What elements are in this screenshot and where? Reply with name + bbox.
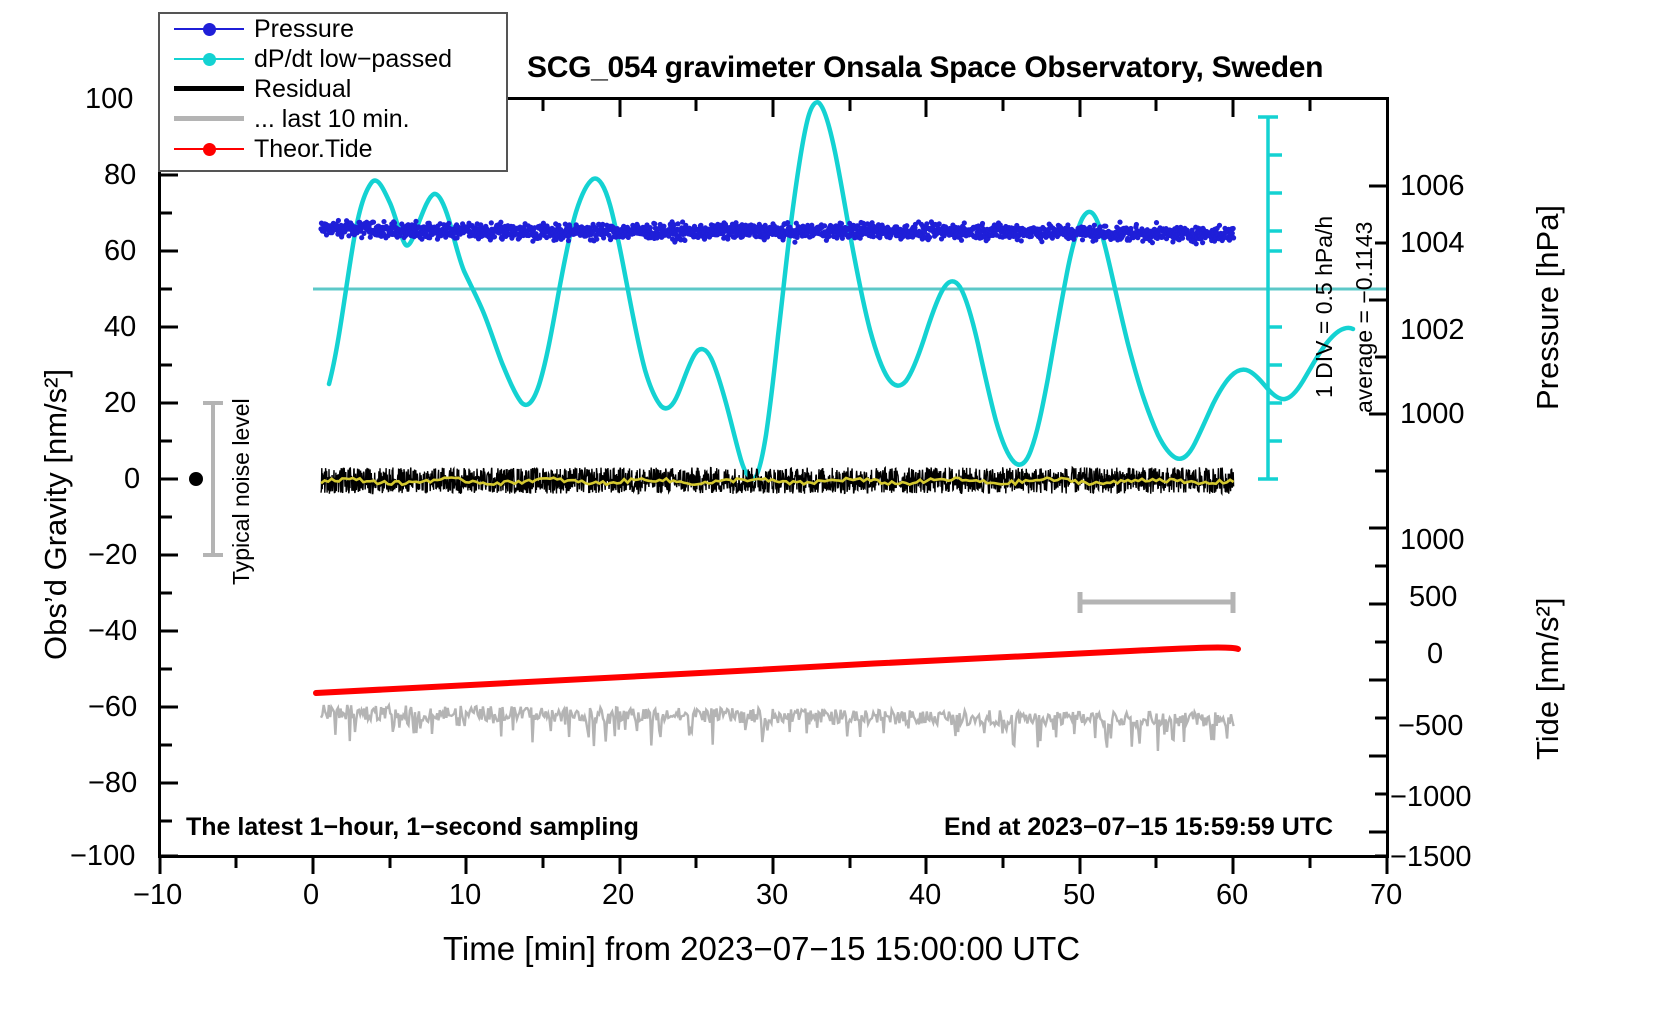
legend-label-pressure: Pressure: [248, 15, 354, 44]
footer-note-left: The latest 1−hour, 1−second sampling: [186, 813, 639, 842]
bottom-tick-20: 20: [602, 879, 634, 912]
right-tide-tick-m1000: −1000: [1390, 781, 1471, 814]
right-pressure-tick-1006: 1006: [1400, 170, 1465, 203]
left-axis-label: Obs’d Gravity [nm/s²]: [38, 369, 74, 660]
bottom-axis-label: Time [min] from 2023−07−15 15:00:00 UTC: [443, 930, 1080, 968]
left-tick-m40: −40: [88, 615, 137, 648]
right-tide-axis-label: Tide [nm/s²]: [1530, 598, 1566, 761]
legend-label-last10: ... last 10 min.: [248, 105, 410, 134]
left-tick-m60: −60: [88, 691, 137, 724]
right-tide-tick-1000: 1000: [1400, 524, 1465, 557]
typical-noise-level-label: Typical noise level: [228, 398, 255, 585]
bottom-tick-m10: −10: [133, 879, 182, 912]
legend-swatch-last10: [170, 104, 248, 134]
legend-swatch-theor-tide: [170, 134, 248, 164]
bottom-tick-60: 60: [1216, 879, 1248, 912]
left-tick-m100: −100: [70, 840, 135, 873]
bottom-tick-40: 40: [909, 879, 941, 912]
left-tick-100: 100: [85, 83, 133, 116]
bottom-axis-ticks: [160, 856, 1387, 874]
dpdt-scale-label: 1 DIV = 0.5 hPa/h: [1311, 216, 1338, 398]
left-tick-m20: −20: [88, 539, 137, 572]
right-pressure-tick-1000: 1000: [1400, 398, 1465, 431]
legend-swatch-residual: [170, 74, 248, 104]
legend-label-dpdt: dP/dt low−passed: [248, 45, 452, 74]
legend-item-residual[interactable]: Residual: [160, 74, 506, 104]
legend-label-residual: Residual: [248, 75, 351, 104]
chart-title: SCG_054 gravimeter Onsala Space Observat…: [527, 51, 1323, 85]
legend-item-last10[interactable]: ... last 10 min.: [160, 104, 506, 134]
left-tick-80: 80: [104, 159, 136, 192]
dpdt-average-label: average = −0.1143: [1351, 222, 1378, 413]
legend-item-dpdt[interactable]: dP/dt low−passed: [160, 44, 506, 74]
right-tide-tick-m500: −500: [1398, 710, 1463, 743]
left-tick-20: 20: [104, 387, 136, 420]
bottom-tick-10: 10: [449, 879, 481, 912]
legend-label-theor-tide: Theor.Tide: [248, 135, 373, 164]
right-pressure-tick-1002: 1002: [1400, 314, 1465, 347]
left-tick-0: 0: [124, 463, 140, 496]
legend-item-theor-tide[interactable]: Theor.Tide: [160, 134, 506, 164]
bottom-tick-0: 0: [303, 879, 319, 912]
left-tick-40: 40: [104, 311, 136, 344]
left-tick-60: 60: [104, 235, 136, 268]
legend-swatch-dpdt: [170, 44, 248, 74]
footer-note-right: End at 2023−07−15 15:59:59 UTC: [944, 813, 1333, 842]
right-tide-tick-0: 0: [1427, 638, 1443, 671]
right-tide-tick-500: 500: [1409, 581, 1457, 614]
bottom-tick-30: 30: [756, 879, 788, 912]
right-pressure-tick-1004: 1004: [1400, 227, 1465, 260]
legend: Pressure dP/dt low−passed Residual ... l…: [158, 12, 508, 172]
legend-item-pressure[interactable]: Pressure: [160, 14, 506, 44]
right-pressure-axis-label: Pressure [hPa]: [1530, 205, 1566, 410]
bottom-tick-50: 50: [1063, 879, 1095, 912]
left-tick-m80: −80: [88, 767, 137, 800]
bottom-tick-70: 70: [1370, 879, 1402, 912]
plot-frame: [158, 97, 1389, 858]
right-tide-tick-m1500: −1500: [1390, 841, 1471, 874]
legend-swatch-pressure: [170, 14, 248, 44]
